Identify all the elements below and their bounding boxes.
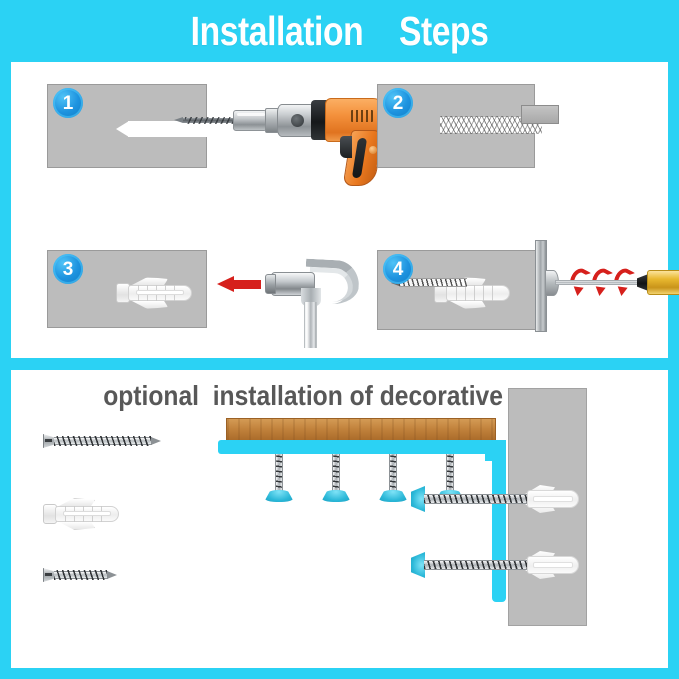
screw-tip [107, 571, 117, 579]
arrow-head [217, 276, 234, 292]
screw-threads [54, 436, 152, 446]
decorative-cap [378, 490, 408, 502]
anchor-fin-bottom [448, 300, 486, 309]
anchor-slot [136, 290, 184, 295]
screwdriver-shaft [555, 280, 641, 285]
arrow-shaft [233, 280, 261, 289]
drill-bit-flute [185, 117, 233, 124]
decorative-cap [411, 552, 425, 578]
gray-plug-icon [521, 105, 559, 124]
decorative-cap [264, 490, 294, 502]
red-arrow-left-icon [217, 276, 261, 292]
drill-trigger [340, 136, 352, 158]
rotation-arrow-1 [567, 266, 591, 293]
screw-tip [151, 437, 161, 445]
cover-panel-subtitle: optional installation of decorative cove… [103, 380, 575, 412]
step-2-clean-hole: 2 [359, 74, 659, 214]
screw-shaft [389, 454, 397, 492]
wall-anchor-icon [116, 279, 202, 307]
anchor-fin-bottom [130, 300, 168, 309]
screw-shaft [446, 454, 454, 492]
step-3-insert-anchor: 3 [29, 240, 349, 350]
claw-hammer-icon [265, 250, 361, 344]
decorative-cap [411, 486, 425, 512]
decorative-cap [321, 490, 351, 502]
screw-shaft [332, 454, 340, 492]
drill-vent [291, 114, 304, 127]
electric-drill-icon [179, 80, 349, 190]
rotation-arrow-2 [589, 266, 613, 293]
anchor-slot [63, 511, 111, 516]
step-4-drive-screw: 4 [359, 240, 659, 350]
anchor-fin-bottom [57, 521, 95, 530]
hammer-face [265, 274, 276, 294]
wooden-shelf-plank [226, 418, 496, 442]
step-badge-1: 1 [53, 88, 83, 118]
anchor-hole [533, 496, 573, 502]
installed-wall-anchor-2 [519, 552, 583, 578]
step-1-drill-hole: 1 [29, 74, 349, 214]
anchor-hole [533, 562, 573, 568]
screw-shaft [424, 494, 528, 504]
screw-shaft [275, 454, 283, 492]
page-title-bar: Installation Steps [0, 0, 679, 62]
screw-shaft [424, 560, 528, 570]
step-badge-2: 2 [383, 88, 413, 118]
rotation-arrow-3 [611, 266, 635, 293]
hammer-handle [304, 302, 317, 348]
anchor-ribs [456, 285, 500, 301]
step-badge-4: 4 [383, 254, 413, 284]
page-title: Installation Steps [191, 8, 489, 55]
screw-inside-anchor-icon [399, 278, 467, 287]
screwdriver-handle [647, 270, 679, 295]
decorative-cover-vertical [492, 440, 506, 602]
installation-steps-panel: 1 2 [11, 62, 668, 358]
drill-chuck-icon [233, 110, 267, 131]
decorative-cover-panel: optional installation of decorative cove… [11, 370, 668, 668]
list-item-wall-anchor [43, 500, 133, 528]
installed-wall-anchor-1 [519, 486, 583, 512]
decorative-cover-strip [218, 440, 506, 454]
parts-list [29, 420, 189, 620]
step-badge-3: 3 [53, 254, 83, 284]
screw-threads [54, 570, 108, 580]
